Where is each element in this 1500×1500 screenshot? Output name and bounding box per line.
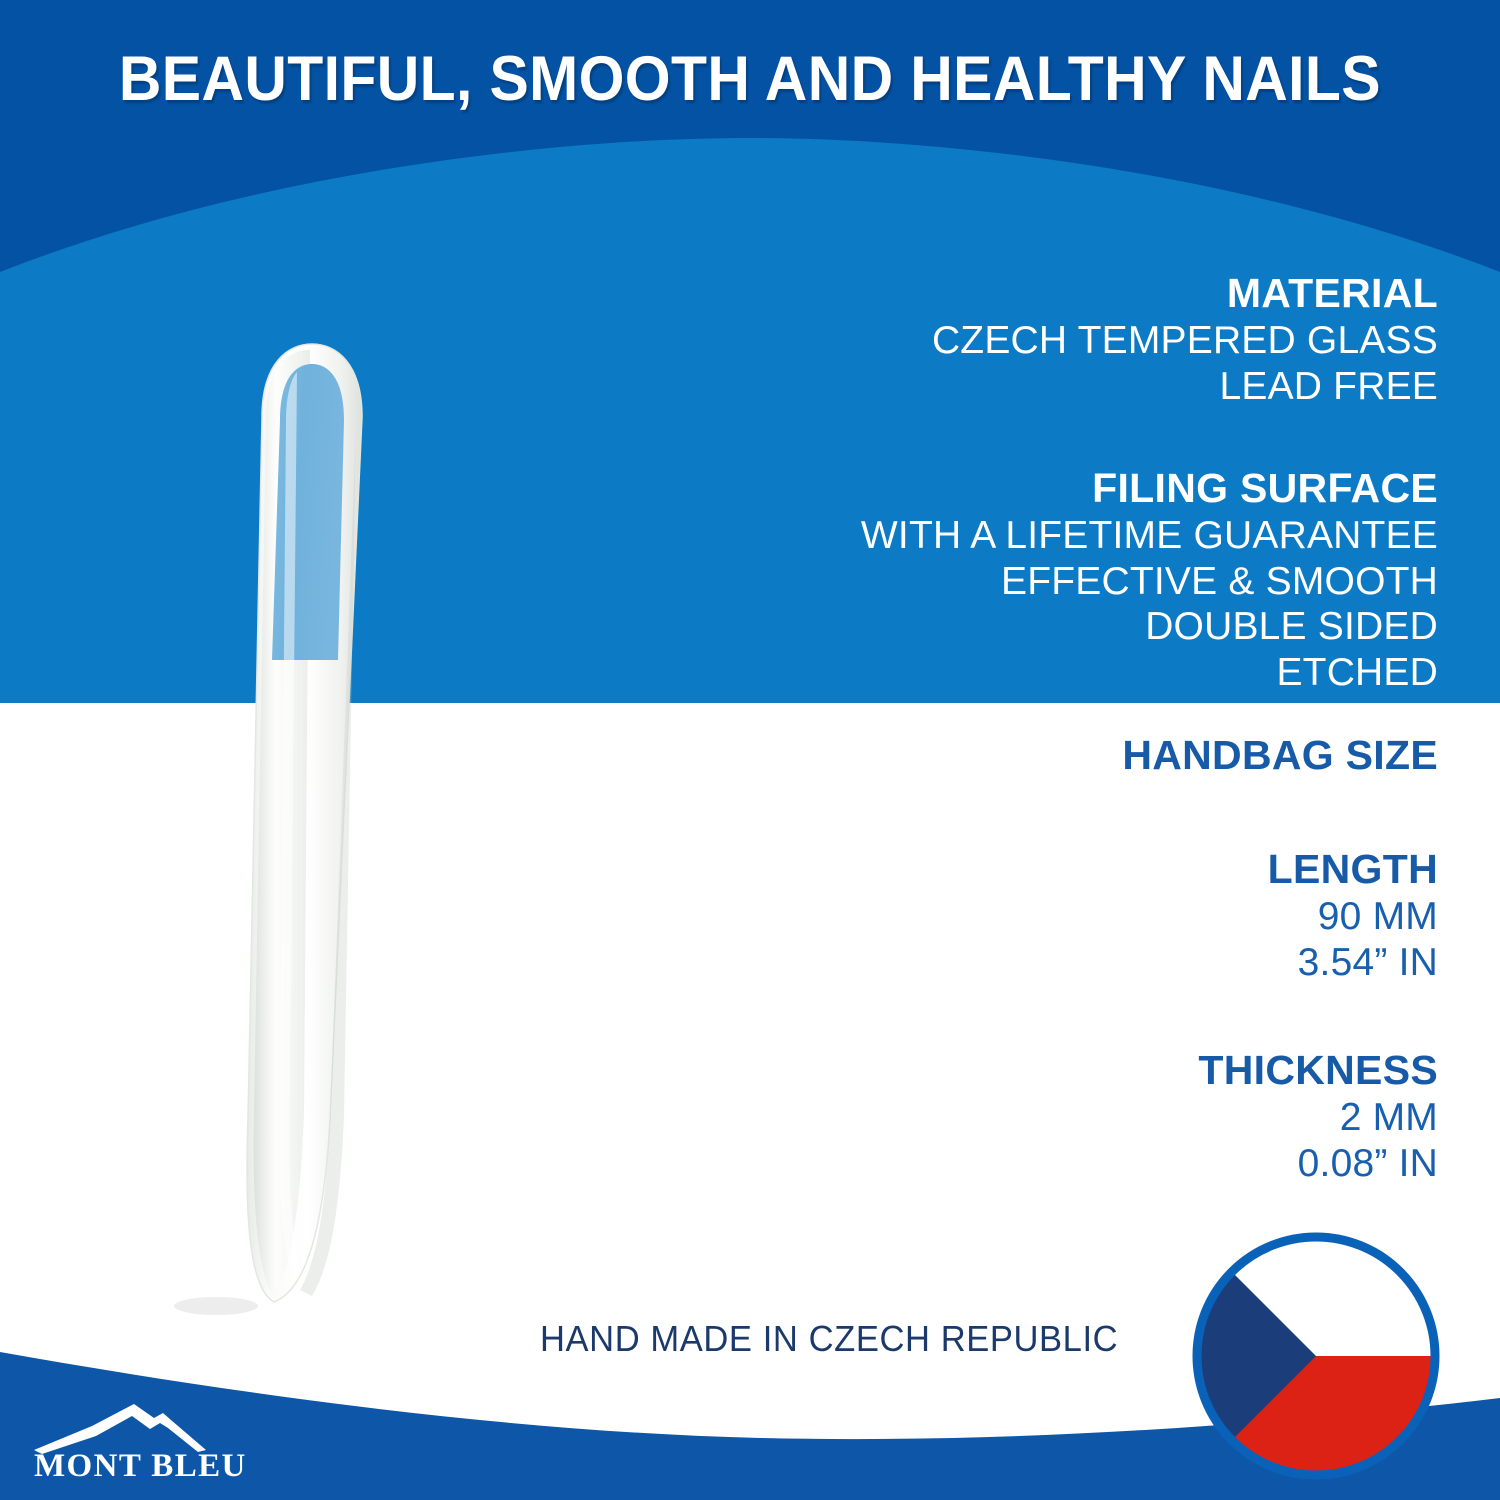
spec-heading-filing-surface: FILING SURFACE: [818, 465, 1438, 513]
page-title: BEAUTIFUL, SMOOTH AND HEALTHY NAILS: [0, 46, 1500, 112]
spec-group-thickness: THICKNESS 2 MM 0.08” IN: [818, 1047, 1438, 1186]
spec-value-material-2: LEAD FREE: [818, 364, 1438, 410]
spec-heading-handbag-size: HANDBAG SIZE: [818, 732, 1438, 780]
spec-value-filing-2: EFFECTIVE & SMOOTH: [818, 559, 1438, 605]
spec-value-material-1: CZECH TEMPERED GLASS: [818, 318, 1438, 364]
spec-value-length-mm: 90 MM: [818, 894, 1438, 940]
brand-logo: MONT BLEU: [30, 1398, 280, 1496]
spec-value-length-in: 3.54” IN: [818, 940, 1438, 986]
spec-list-blue: MATERIAL CZECH TEMPERED GLASS LEAD FREE …: [818, 270, 1438, 696]
spec-value-thickness-in: 0.08” IN: [818, 1141, 1438, 1187]
spec-heading-thickness: THICKNESS: [818, 1047, 1438, 1095]
page-title-text: BEAUTIFUL, SMOOTH AND HEALTHY NAILS: [119, 46, 1381, 112]
spec-heading-material: MATERIAL: [818, 270, 1438, 318]
spec-group-filing-surface: FILING SURFACE WITH A LIFETIME GUARANTEE…: [818, 465, 1438, 695]
brand-name: MONT BLEU: [34, 1448, 247, 1485]
spec-list-white: HANDBAG SIZE LENGTH 90 MM 3.54” IN THICK…: [818, 732, 1438, 1186]
spec-value-filing-1: WITH A LIFETIME GUARANTEE: [818, 513, 1438, 559]
spec-value-filing-4: ETCHED: [818, 650, 1438, 696]
mountain-outline: [34, 1404, 206, 1454]
spec-group-material: MATERIAL CZECH TEMPERED GLASS LEAD FREE: [818, 270, 1438, 409]
spec-heading-length: LENGTH: [818, 846, 1438, 894]
handmade-note: HAND MADE IN CZECH REPUBLIC: [540, 1318, 1118, 1360]
spec-group-handbag-size: HANDBAG SIZE: [818, 732, 1438, 780]
product-infographic: BEAUTIFUL, SMOOTH AND HEALTHY NAILS MATE…: [0, 0, 1500, 1500]
spec-value-filing-3: DOUBLE SIDED: [818, 604, 1438, 650]
spec-group-length: LENGTH 90 MM 3.54” IN: [818, 846, 1438, 985]
spec-value-thickness-mm: 2 MM: [818, 1095, 1438, 1141]
